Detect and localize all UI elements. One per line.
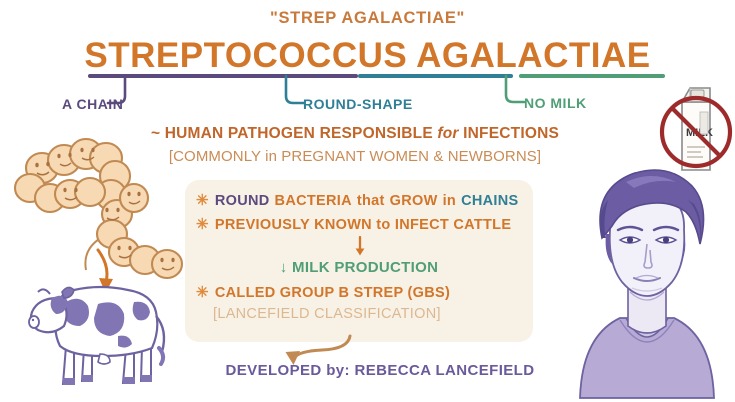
bullet1-word-round: ROUND — [215, 193, 270, 209]
bullet2-text: PREVIOUSLY KNOWN to INFECT CATTLE — [215, 217, 511, 233]
bullet1-word-in: in — [443, 193, 457, 209]
underline-segment-round — [358, 74, 513, 78]
milk-production-text: ↓ MILK PRODUCTION — [185, 259, 533, 276]
down-arrow-icon — [353, 236, 367, 258]
callout-label-no-milk: NO MILK — [524, 95, 587, 111]
asterisk-bullet-icon: ✳ — [196, 283, 209, 301]
lancefield-classification-text: [LANCEFIELD CLASSIFICATION] — [213, 306, 441, 322]
description-line-1-suffix: INFECTIONS — [459, 125, 559, 142]
asterisk-bullet-icon: ✳ — [196, 191, 209, 209]
callout-label-round-shape: ROUND-SHAPE — [303, 96, 413, 112]
bullet1-word-that: that — [357, 193, 385, 209]
rebecca-lancefield-portrait — [562, 160, 732, 398]
subtitle: "STREP AGALACTIAE" — [0, 9, 735, 28]
content-box: ✳ ROUND BACTERIA that GROW in CHAINS ✳ P… — [185, 180, 533, 342]
bullet1-word-chains: CHAINS — [461, 193, 518, 209]
bullet-item-infect-cattle: ✳ PREVIOUSLY KNOWN to INFECT CATTLE — [196, 215, 511, 233]
asterisk-bullet-icon: ✳ — [196, 215, 209, 233]
infographic-canvas: "STREP AGALACTIAE" STREPTOCOCCUS AGALACT… — [0, 0, 735, 402]
cow-illustration — [22, 268, 182, 394]
developed-by-caption: DEVELOPED by: REBECCA LANCEFIELD — [185, 362, 575, 379]
bullet1-word-grow: GROW — [390, 193, 438, 209]
bullet3-text: CALLED GROUP B STREP (GBS) — [215, 285, 450, 301]
underline-segment-milk — [519, 74, 665, 78]
description-line-1-prefix: ~ HUMAN PATHOGEN RESPONSIBLE — [151, 125, 437, 142]
bullet-item-group-b-strep: ✳ CALLED GROUP B STREP (GBS) — [196, 283, 450, 301]
bullet-item-round-bacteria: ✳ ROUND BACTERIA that GROW in CHAINS — [196, 191, 523, 209]
bullet1-word-bacteria: BACTERIA — [275, 193, 352, 209]
page-title: STREPTOCOCCUS AGALACTIAE — [0, 36, 735, 76]
description-line-1-italic: for — [437, 125, 458, 142]
callout-label-a-chain: A CHAIN — [62, 96, 123, 112]
description-line-1: ~ HUMAN PATHOGEN RESPONSIBLE for INFECTI… — [120, 125, 590, 143]
